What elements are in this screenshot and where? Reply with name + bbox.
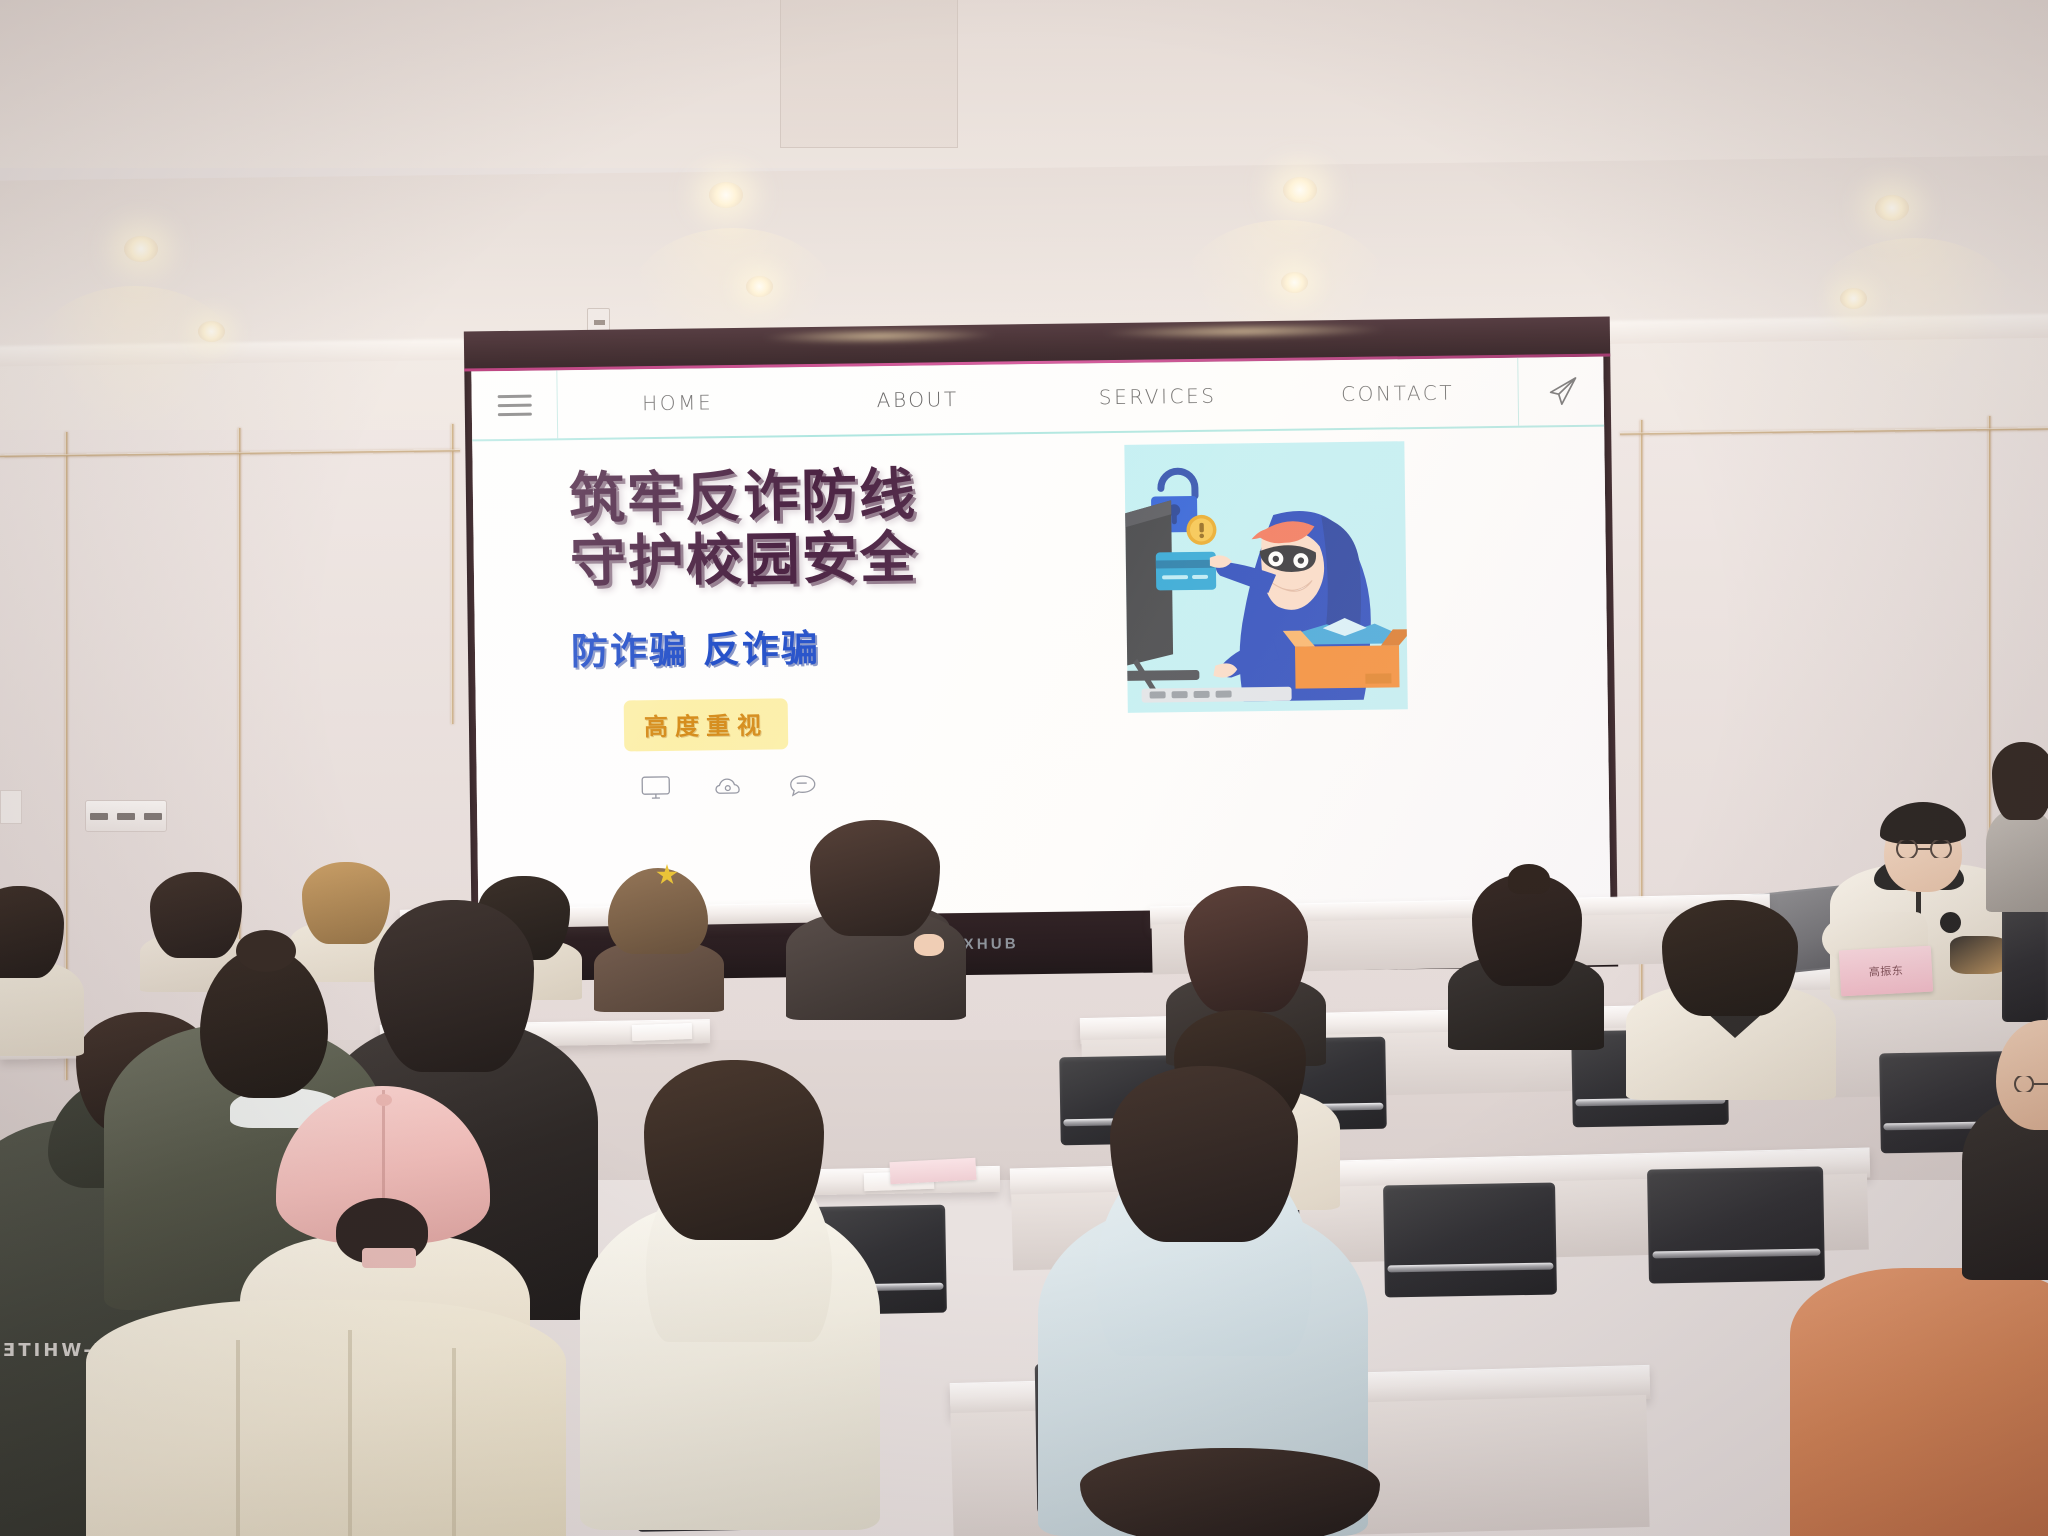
hacker-illustration	[1124, 441, 1407, 713]
garment	[1986, 808, 2048, 912]
puffer-seam	[236, 1340, 240, 1536]
ceiling-downlight	[1840, 288, 1867, 309]
audience-member	[1080, 1448, 1380, 1536]
presenter-chair	[2002, 904, 2048, 1022]
wall-trim-vertical	[451, 424, 454, 724]
audience-member	[0, 886, 84, 1056]
audience-member	[1962, 1020, 2048, 1280]
nav-link-home[interactable]: HOME	[558, 389, 798, 416]
light-switch[interactable]	[117, 813, 135, 820]
hair	[1110, 1066, 1298, 1242]
hair	[1992, 742, 2048, 820]
cloud-icon	[715, 774, 745, 803]
puffer-seam	[348, 1330, 352, 1536]
presenter-jacket-logo	[1940, 912, 1961, 933]
presenter-name-card: 高振东	[1839, 946, 1933, 997]
presenter-name-text: 高振东	[1868, 962, 1903, 980]
hair	[374, 900, 534, 1072]
puffer-seam	[452, 1348, 456, 1536]
hair	[644, 1060, 824, 1240]
cap-strap	[362, 1248, 416, 1268]
emphasis-badge: 高度重视	[624, 698, 789, 751]
hair	[1662, 900, 1798, 1016]
ceiling-downlight	[1875, 195, 1909, 221]
chair	[1647, 1166, 1825, 1283]
slide-content: 筑牢反诈防线 守护校园安全 防诈骗 反诈骗 高度重视	[472, 427, 1610, 920]
headline-line-2: 守护校园安全	[569, 524, 1108, 594]
audience-member	[1790, 1268, 2048, 1536]
ceiling-upper-slab	[0, 0, 2048, 168]
ceiling-air-vent	[780, 0, 958, 148]
credit-card-icon	[1156, 552, 1216, 591]
slide-feature-icons	[641, 769, 1111, 806]
wall-plate	[0, 790, 22, 824]
audience-member	[786, 820, 966, 1020]
slide-subtitle: 防诈骗 反诈骗	[571, 614, 1110, 675]
audience-member	[86, 1300, 566, 1536]
hair	[1080, 1448, 1380, 1536]
audience-member	[1448, 868, 1604, 1050]
hair-bun	[236, 930, 296, 972]
headline-line-1: 筑牢反诈防线	[569, 461, 1108, 531]
audience-member	[1986, 742, 2048, 912]
slide-nav-links: HOME ABOUT SERVICES CONTACT	[558, 380, 1518, 417]
nav-link-services[interactable]: SERVICES	[1038, 383, 1278, 410]
slide-illustration-column	[1106, 427, 1610, 911]
audience-member	[594, 862, 724, 1012]
speech-bubble-icon	[789, 772, 817, 803]
light-switch[interactable]	[144, 813, 162, 820]
nav-link-contact[interactable]: CONTACT	[1278, 380, 1518, 407]
monitor-icon	[641, 774, 671, 805]
lecture-hall-photo: HOME ABOUT SERVICES CONTACT 筑牢反诈防线	[0, 0, 2048, 1536]
presenter-hair	[1880, 802, 1966, 844]
ceiling-downlight	[198, 321, 225, 342]
beanie-hat	[608, 868, 708, 954]
ceiling-downlight	[1281, 272, 1308, 293]
desk-paper	[889, 1158, 976, 1184]
presentation-slide[interactable]: HOME ABOUT SERVICES CONTACT 筑牢反诈防线	[471, 357, 1610, 920]
light-switch-panel[interactable]	[85, 800, 167, 832]
nav-link-about[interactable]: ABOUT	[798, 386, 1038, 413]
ceiling-downlight	[746, 276, 773, 297]
ceiling-downlight	[124, 236, 158, 262]
garment	[86, 1300, 566, 1536]
ponytail	[1508, 864, 1550, 894]
hair	[1184, 886, 1308, 1012]
glasses	[2006, 1076, 2048, 1092]
chair	[1383, 1183, 1557, 1298]
hand	[914, 934, 944, 956]
cap-seam	[382, 1090, 385, 1210]
light-switch[interactable]	[90, 813, 108, 820]
presenter-glasses	[1888, 840, 1960, 858]
paper-plane-icon[interactable]	[1517, 357, 1604, 426]
keyboard	[1141, 687, 1291, 703]
ceiling-downlight	[1283, 177, 1317, 203]
hair	[810, 820, 940, 936]
garment	[1790, 1268, 2048, 1536]
desk-paper	[632, 1023, 693, 1041]
slide-headline: 筑牢反诈防线 守护校园安全	[569, 461, 1109, 595]
hair	[0, 886, 64, 978]
cap-button	[376, 1094, 392, 1106]
ceiling-downlight	[709, 182, 743, 208]
audience-member	[1626, 900, 1836, 1100]
hamburger-menu-icon[interactable]	[471, 370, 558, 439]
audience-member	[580, 1060, 880, 1530]
